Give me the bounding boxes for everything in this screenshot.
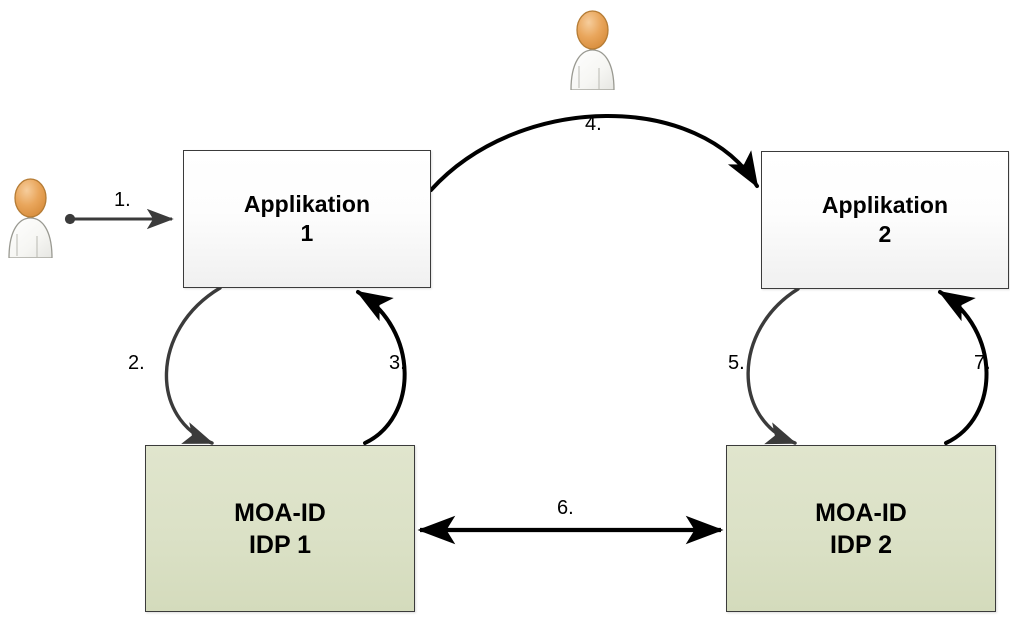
edge-label-1: 1. (114, 189, 131, 212)
edge-label-6: 6. (557, 497, 574, 520)
node-applikation-2-line1: Applikation (822, 191, 948, 220)
edge-5-arrow (748, 289, 798, 443)
edge-label-2: 2. (128, 352, 145, 375)
user-icon (3, 172, 58, 258)
edge-label-3: 3. (389, 352, 406, 375)
edge-label-4: 4. (585, 113, 602, 136)
node-moa-id-idp-2-line1: MOA-ID (815, 497, 907, 529)
diagram-canvas: Applikation 1 Applikation 2 MOA-ID IDP 1… (0, 0, 1010, 618)
edge-label-5: 5. (728, 352, 745, 375)
user-icon (565, 4, 620, 90)
node-applikation-1-line2: 1 (301, 219, 314, 248)
node-applikation-2[interactable]: Applikation 2 (761, 151, 1009, 289)
node-moa-id-idp-1-line1: MOA-ID (234, 497, 326, 529)
node-applikation-1[interactable]: Applikation 1 (183, 150, 431, 288)
node-applikation-1-line1: Applikation (244, 190, 370, 219)
node-moa-id-idp-1[interactable]: MOA-ID IDP 1 (145, 445, 415, 612)
node-moa-id-idp-2[interactable]: MOA-ID IDP 2 (726, 445, 996, 612)
edge-label-7: 7. (974, 352, 991, 375)
edge-2-arrow (166, 288, 220, 443)
node-applikation-2-line2: 2 (879, 220, 892, 249)
node-moa-id-idp-2-line2: IDP 2 (830, 529, 892, 561)
node-moa-id-idp-1-line2: IDP 1 (249, 529, 311, 561)
